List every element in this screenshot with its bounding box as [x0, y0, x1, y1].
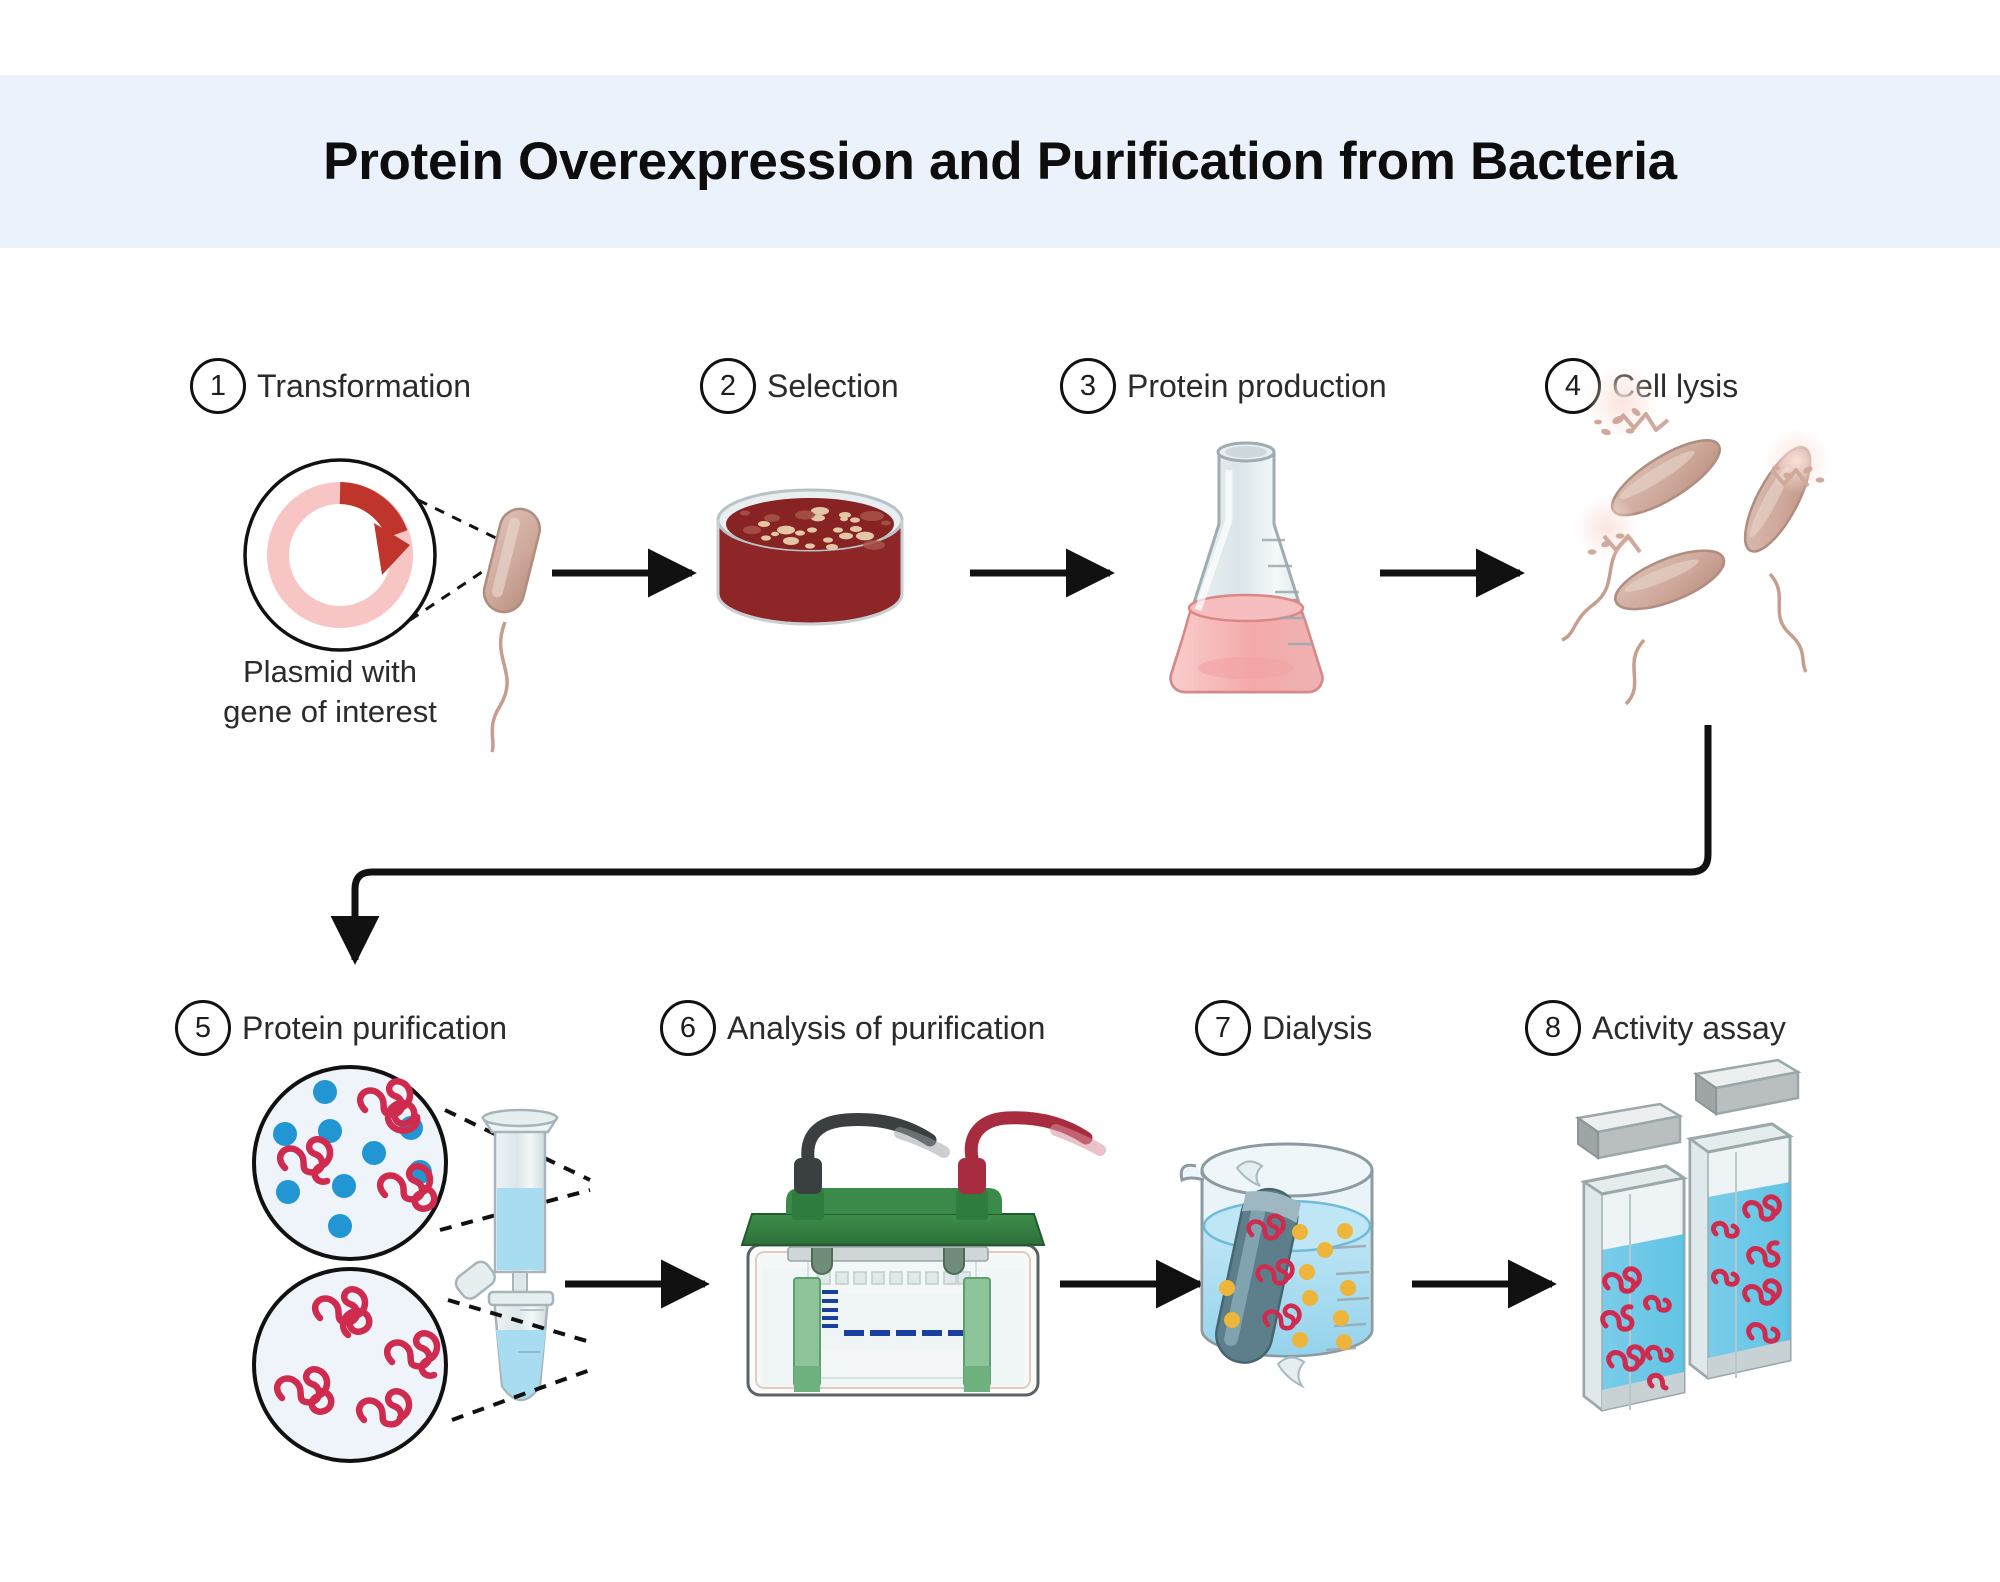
petri-dish-icon [718, 490, 902, 624]
workflow-artwork: Plasmid with gene of interest [0, 0, 2000, 1582]
gel-electrophoresis-icon [742, 1118, 1100, 1395]
arrow-4-to-5-wrap [355, 725, 1708, 960]
gel-sample-bands [844, 1330, 968, 1336]
dialysis-beaker-icon [1181, 1144, 1372, 1386]
cuvette-rear [1690, 1060, 1798, 1378]
spin-column-icon [254, 1067, 590, 1461]
cuvette-front [1578, 1104, 1684, 1410]
plasmid-caption-line2: gene of interest [223, 694, 437, 729]
cuvettes-icon [1578, 1060, 1798, 1410]
erlenmeyer-flask-icon [1171, 443, 1323, 692]
plasmid-caption-line1: Plasmid with [243, 654, 417, 689]
lysing-bacteria-icon [1562, 365, 1830, 704]
